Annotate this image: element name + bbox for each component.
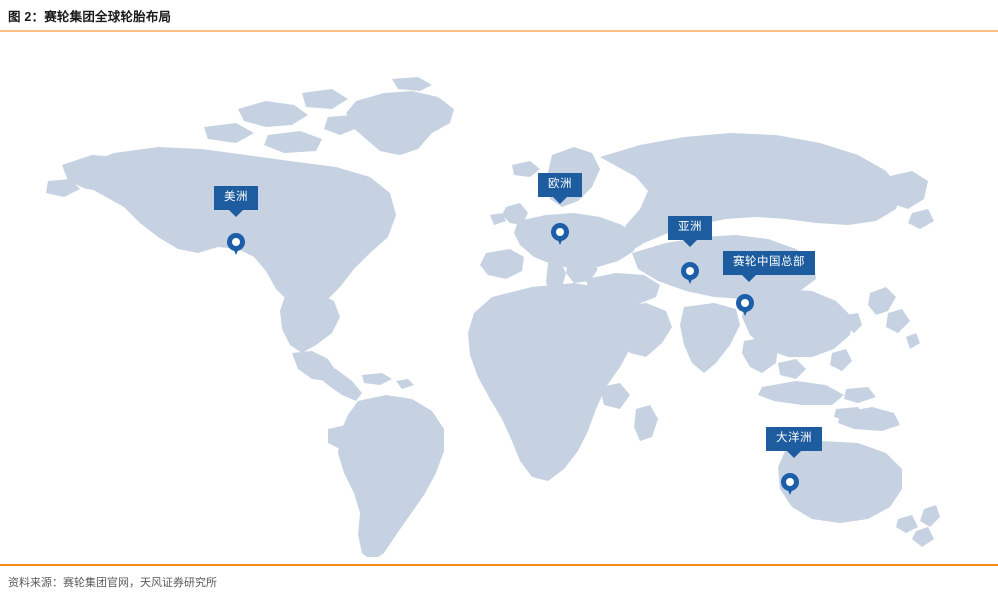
figure-container: 图 2：赛轮集团全球轮胎布局 [0,0,998,600]
callout-tip [683,240,697,247]
figure-header: 图 2：赛轮集团全球轮胎布局 [0,0,998,31]
map-label-americas[interactable]: 美洲 [214,186,258,210]
world-map-landmass [40,57,940,557]
map-label-oceania-text: 大洋洲 [776,432,812,444]
map-label-oceania[interactable]: 大洋洲 [766,427,822,451]
map-label-americas-text: 美洲 [224,191,248,203]
map-label-europe-text: 欧洲 [548,178,572,190]
figure-source: 资料来源：赛轮集团官网，天风证券研究所 [8,570,808,594]
callout-tip [553,197,567,204]
header-divider [0,30,998,32]
location-pin-icon [681,262,699,280]
callout-tip [787,451,801,458]
page-title: 图 2：赛轮集团全球轮胎布局 [8,6,171,25]
location-pin-icon [551,223,569,241]
location-pin-icon [781,473,799,491]
location-pin-icon [227,233,245,251]
footer-divider [0,564,998,566]
map-label-asia-text: 亚洲 [678,221,702,233]
world-map-canvas: 美洲 欧洲 亚洲 赛轮中国总 [0,33,998,563]
map-label-europe[interactable]: 欧洲 [538,173,582,197]
map-label-asia[interactable]: 亚洲 [668,216,712,240]
callout-tip [229,210,243,217]
location-pin-icon [736,294,754,312]
callout-tip [742,275,756,282]
map-label-china-hq-text: 赛轮中国总部 [733,256,805,268]
map-label-china-hq[interactable]: 赛轮中国总部 [723,251,815,275]
